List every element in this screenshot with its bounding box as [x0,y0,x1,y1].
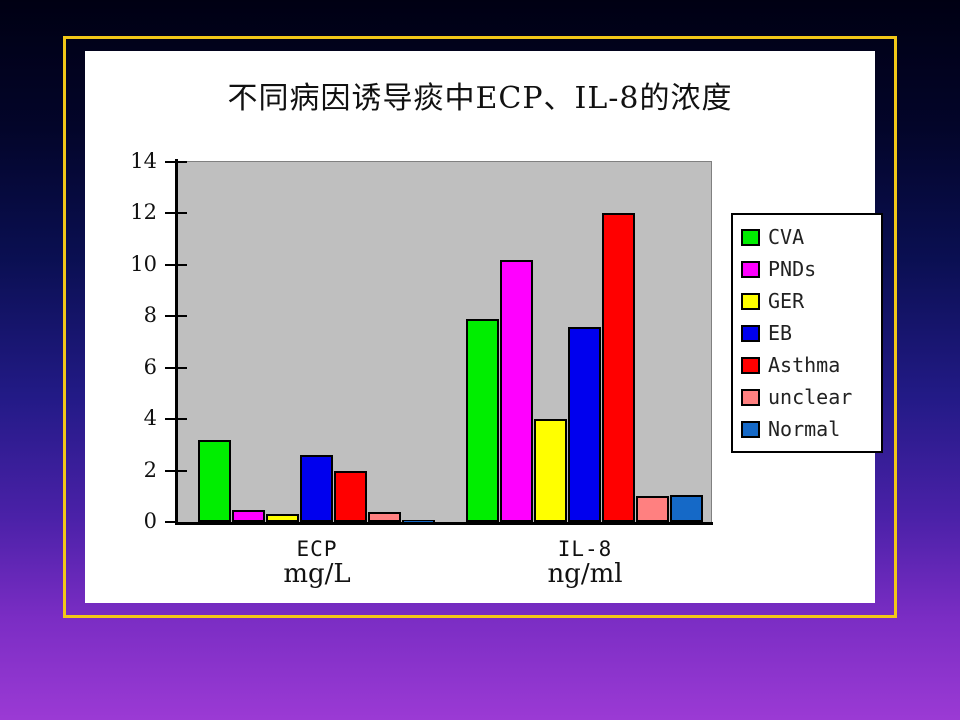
bar-ecp-normal [402,520,435,522]
legend-item-asthma[interactable]: Asthma [741,349,875,381]
y-tick-inner-12 [178,212,187,214]
y-tick-inner-2 [178,470,187,472]
x-axis-group-name: ECP [237,537,397,561]
y-axis-label-0: 0 [97,509,157,533]
legend-swatch-unclear [741,389,760,406]
y-tick-inner-10 [178,264,187,266]
bar-il8-unclear [636,496,669,522]
bar-il8-eb [568,327,601,522]
y-tick-14 [165,161,175,163]
bar-il8-pnds [500,260,533,522]
legend-label-pnds: PNDs [768,257,816,281]
chart-title: 不同病因诱导痰中ECP、IL-8的浓度 [85,73,875,117]
y-axis-label-8: 8 [97,303,157,327]
y-tick-0 [165,521,175,523]
x-axis-line [175,522,713,525]
presentation-slide: 不同病因诱导痰中ECP、IL-8的浓度 02468101214 ECPmg/LI… [0,0,960,720]
bar-ecp-pnds [232,510,265,522]
legend-item-normal[interactable]: Normal [741,413,875,445]
legend-label-unclear: unclear [768,385,852,409]
bar-ecp-unclear [368,512,401,522]
y-tick-inner-6 [178,367,187,369]
y-axis-label-10: 10 [97,252,157,276]
y-tick-inner-14 [178,161,187,163]
x-axis-group-il8: IL-8ng/ml [505,537,665,589]
y-tick-4 [165,418,175,420]
y-axis-label-6: 6 [97,355,157,379]
y-tick-12 [165,212,175,214]
y-axis-label-4: 4 [97,406,157,430]
x-axis-group-unit: mg/L [237,559,397,589]
bar-il8-cva [466,319,499,522]
y-axis-label-14: 14 [97,149,157,173]
legend-swatch-cva [741,229,760,246]
legend-swatch-pnds [741,261,760,278]
legend-item-pnds[interactable]: PNDs [741,253,875,285]
y-tick-10 [165,264,175,266]
y-tick-inner-4 [178,418,187,420]
legend-label-cva: CVA [768,225,804,249]
bar-il8-asthma [602,213,635,522]
legend-label-ger: GER [768,289,804,313]
bar-ecp-eb [300,455,333,522]
legend-item-unclear[interactable]: unclear [741,381,875,413]
chart-board: 不同病因诱导痰中ECP、IL-8的浓度 02468101214 ECPmg/LI… [85,51,875,603]
bar-ecp-asthma [334,471,367,522]
bar-ecp-ger [266,514,299,522]
legend-label-normal: Normal [768,417,840,441]
legend-item-ger[interactable]: GER [741,285,875,317]
x-axis-group-unit: ng/ml [505,559,665,589]
x-axis-group-name: IL-8 [505,537,665,561]
legend-swatch-asthma [741,357,760,374]
y-tick-inner-8 [178,315,187,317]
chart-legend: CVAPNDsGEREBAsthmaunclearNormal [731,213,883,453]
bar-il8-ger [534,419,567,522]
y-tick-8 [165,315,175,317]
legend-swatch-eb [741,325,760,342]
y-axis-label-2: 2 [97,458,157,482]
bar-il8-normal [670,495,703,522]
y-tick-2 [165,470,175,472]
x-axis-group-ecp: ECPmg/L [237,537,397,589]
legend-item-eb[interactable]: EB [741,317,875,349]
legend-swatch-normal [741,421,760,438]
bar-ecp-cva [198,440,231,522]
legend-item-cva[interactable]: CVA [741,221,875,253]
legend-swatch-ger [741,293,760,310]
y-axis-label-12: 12 [97,200,157,224]
legend-label-asthma: Asthma [768,353,840,377]
legend-label-eb: EB [768,321,792,345]
y-tick-6 [165,367,175,369]
